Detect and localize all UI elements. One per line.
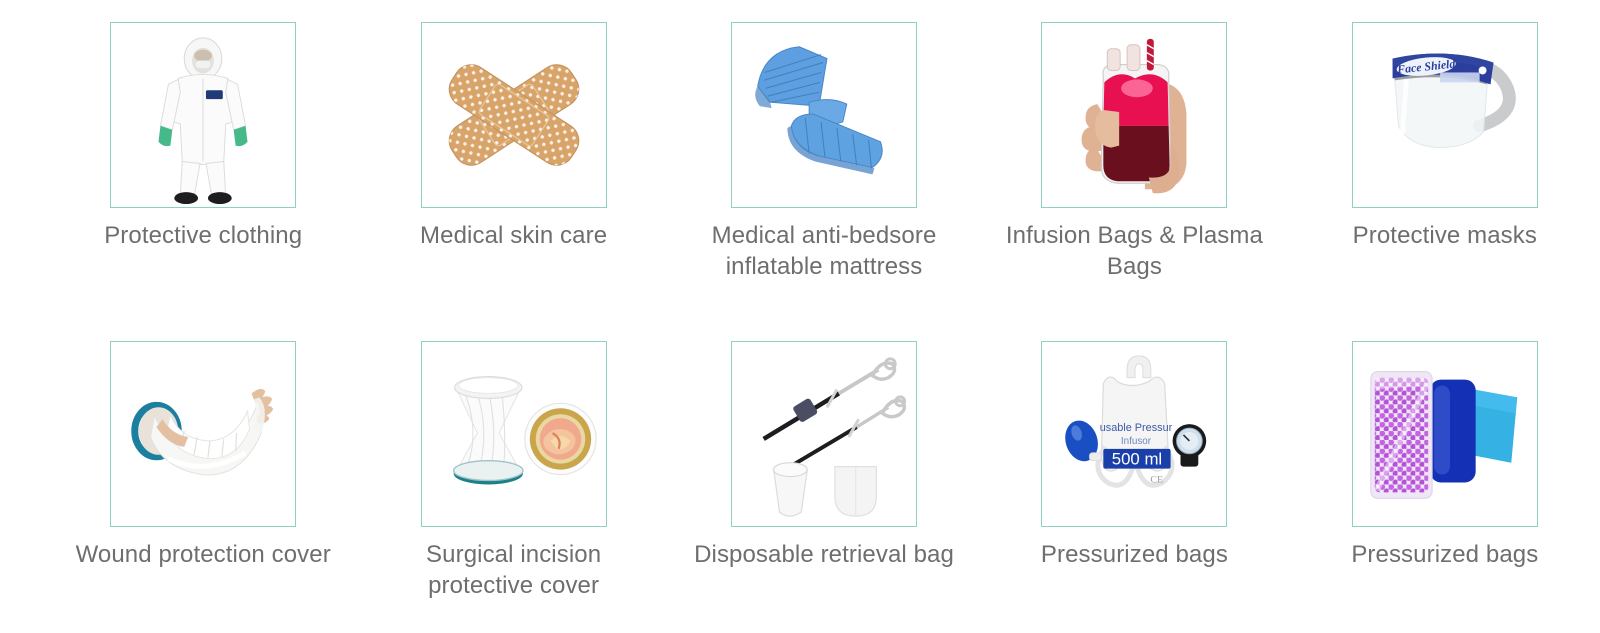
crossed-adhesive-bandages-icon <box>422 22 606 208</box>
thumbnail-frame[interactable] <box>1041 22 1227 208</box>
product-card-medical-skin-care[interactable]: Medical skin care <box>358 22 668 282</box>
thumbnail-frame[interactable] <box>110 341 296 527</box>
gel-ice-packs-icon <box>1353 341 1537 527</box>
hand-holding-blood-bag-icon <box>1042 22 1226 208</box>
product-card-wound-protection-cover[interactable]: Wound protection cover <box>48 341 358 601</box>
thumbnail-frame[interactable]: Face Shield <box>1352 22 1538 208</box>
thumbnail-frame[interactable] <box>731 341 917 527</box>
product-card-surgical-incision-cover[interactable]: Surgical incision protective cover <box>358 341 668 601</box>
pressure-infusor-bag-icon: usable Pressur Infusor 500 ml CE <box>1042 341 1226 527</box>
infusor-brand-text: usable Pressur <box>1100 422 1173 434</box>
thumbnail-frame[interactable] <box>110 22 296 208</box>
product-row-1: Protective clothing <box>0 22 1600 282</box>
ce-mark-text: CE <box>1151 474 1164 485</box>
infusor-volume-text: 500 ml <box>1112 450 1162 469</box>
laparoscopic-specimen-retrieval-bag-icon <box>732 341 916 527</box>
thumbnail-frame[interactable]: usable Pressur Infusor 500 ml CE <box>1041 341 1227 527</box>
blue-inflatable-air-mattress-icon <box>732 22 916 208</box>
product-card-disposable-retrieval-bag[interactable]: Disposable retrieval bag <box>669 341 979 601</box>
product-card-infusion-plasma-bags[interactable]: Infusion Bags & Plasma Bags <box>979 22 1289 282</box>
thumbnail-frame[interactable] <box>421 22 607 208</box>
product-row-2: Wound protection cover <box>0 341 1600 601</box>
product-label: Pressurized bags <box>1295 539 1595 570</box>
wound-retractor-ring-icon <box>422 341 606 527</box>
product-label: Surgical incision protective cover <box>364 539 664 601</box>
product-card-pressurized-bags-gel-packs[interactable]: Pressurized bags <box>1290 341 1600 601</box>
protective-coverall-suit-icon <box>111 22 295 208</box>
waterproof-arm-cast-cover-icon <box>111 341 295 527</box>
product-card-protective-masks[interactable]: Face Shield Protective masks <box>1290 22 1600 282</box>
product-card-anti-bedsore-mattress[interactable]: Medical anti-bedsore inflatable mattress <box>669 22 979 282</box>
product-card-protective-clothing[interactable]: Protective clothing <box>48 22 358 282</box>
product-label: Protective masks <box>1295 220 1595 251</box>
thumbnail-frame[interactable] <box>731 22 917 208</box>
thumbnail-frame[interactable] <box>1352 341 1538 527</box>
product-label: Infusion Bags & Plasma Bags <box>984 220 1284 282</box>
product-label: Medical anti-bedsore inflatable mattress <box>674 220 974 282</box>
product-label: Medical skin care <box>364 220 664 251</box>
clear-face-shield-icon: Face Shield <box>1353 22 1537 208</box>
product-category-grid: Protective clothing <box>0 0 1600 633</box>
product-label: Disposable retrieval bag <box>674 539 974 570</box>
product-label: Wound protection cover <box>53 539 353 570</box>
product-label: Protective clothing <box>53 220 353 251</box>
product-label: Pressurized bags <box>984 539 1284 570</box>
infusor-sub-text: Infusor <box>1121 436 1152 447</box>
product-card-pressurized-bags-infusor[interactable]: usable Pressur Infusor 500 ml CE Pressur… <box>979 341 1289 601</box>
thumbnail-frame[interactable] <box>421 341 607 527</box>
